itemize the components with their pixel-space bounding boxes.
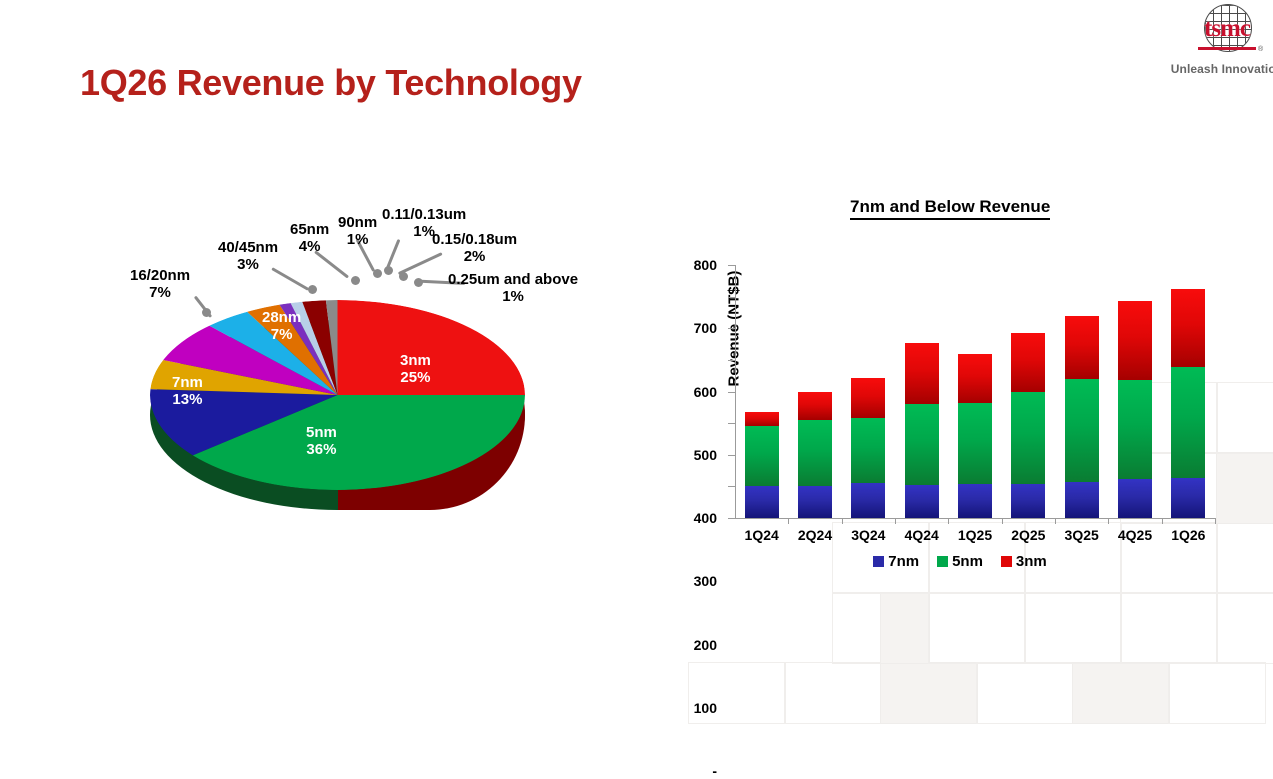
bar-chart-title: 7nm and Below Revenue (850, 197, 1050, 220)
bar-3Q25 (1065, 316, 1099, 518)
bar-segment-3nm (1118, 301, 1152, 380)
y-tick: 200 (728, 455, 735, 456)
y-tick: 600 (728, 328, 735, 329)
y-tick-label: 700 (694, 320, 717, 336)
x-tick (1002, 518, 1003, 524)
pie-label-name: 65nm (290, 221, 329, 238)
x-tick-label-3Q24: 3Q24 (851, 527, 885, 543)
bar-segment-7nm (1118, 479, 1152, 518)
pie-label-65nm: 65nm 4% (290, 222, 329, 256)
pie-label-name: 5nm (306, 424, 337, 441)
pie-label-5nm: 5nm 36% (306, 425, 337, 459)
y-tick-label: 500 (694, 447, 717, 463)
pie-label-28nm: 28nm 7% (262, 310, 301, 344)
bar-1Q24 (745, 412, 779, 518)
bar-segment-5nm (1011, 392, 1045, 484)
y-tick: 700 (728, 297, 735, 298)
tsmc-logo: tsmc ® Unleash Innovation (1182, 4, 1272, 82)
pie-label-3nm: 3nm 25% (400, 353, 431, 387)
pie-label-name: 40/45nm (218, 239, 278, 256)
x-tick-label-4Q24: 4Q24 (905, 527, 939, 543)
legend-swatch-5nm (937, 556, 948, 567)
legend-item-5nm: 5nm (937, 553, 983, 570)
y-axis (735, 265, 736, 518)
x-tick-label-3Q25: 3Q25 (1065, 527, 1099, 543)
bar-segment-5nm (745, 426, 779, 486)
x-tick (948, 518, 949, 524)
x-tick (842, 518, 843, 524)
pie-chart: 16/20nm 7% 40/45nm 3% 65nm 4% 90nm 1% 0.… (110, 190, 670, 530)
y-tick-label: 400 (694, 510, 717, 526)
y-tick: 800 (728, 265, 735, 266)
logo-underline (1198, 47, 1256, 50)
y-tick-label: 100 (694, 700, 717, 716)
bar-2Q25 (1011, 333, 1045, 518)
x-tick-label-1Q26: 1Q26 (1171, 527, 1205, 543)
bar-plot-area: -100200300400500600700800 1Q242Q243Q244Q… (735, 265, 1215, 518)
pie-label-name: 28nm (262, 309, 301, 326)
pie-label-pct: 13% (172, 391, 202, 408)
bar-segment-3nm (905, 343, 939, 405)
x-tick-label-4Q25: 4Q25 (1118, 527, 1152, 543)
pie-label-name: 0.15/0.18um (432, 231, 517, 248)
x-axis (735, 518, 1215, 519)
bar-4Q24 (905, 342, 939, 518)
bar-segment-7nm (1011, 484, 1045, 518)
bar-segment-5nm (1065, 379, 1099, 482)
legend-item-7nm: 7nm (873, 553, 919, 570)
pie-label-name: 16/20nm (130, 267, 190, 284)
bar-2Q24 (798, 392, 832, 519)
pie-label-16-20nm: 16/20nm 7% (130, 268, 190, 302)
bar-segment-7nm (1171, 478, 1205, 518)
bar-segment-5nm (1118, 380, 1152, 479)
legend-label: 3nm (1016, 553, 1047, 570)
bar-segment-5nm (798, 420, 832, 486)
pie-label-pct: 4% (299, 238, 321, 255)
bar-segment-5nm (958, 403, 992, 484)
legend-item-3nm: 3nm (1001, 553, 1047, 570)
bar-segment-3nm (1065, 316, 1099, 379)
pie-label-pct: 7% (271, 326, 293, 343)
bar-segment-7nm (905, 485, 939, 518)
leader-dot-025um-above (414, 278, 423, 287)
y-tick: 100 (728, 486, 735, 487)
logo-tagline: Unleash Innovation (1168, 62, 1273, 76)
pie-label-name: 0.11/0.13um (382, 206, 466, 223)
bar-3Q24 (851, 378, 885, 518)
pie-label-015-018um: 0.15/0.18um 2% (432, 232, 517, 266)
bar-1Q26 (1171, 289, 1205, 518)
x-tick (1215, 518, 1216, 524)
pie-label-40-45nm: 40/45nm 3% (218, 240, 278, 274)
legend-label: 5nm (952, 553, 983, 570)
bar-1Q25 (958, 354, 992, 518)
bar-segment-5nm (851, 418, 885, 483)
leader-dot-015-018um (399, 272, 408, 281)
y-tick: 500 (728, 360, 735, 361)
y-tick: 400 (728, 392, 735, 393)
x-tick-label-1Q24: 1Q24 (745, 527, 779, 543)
bar-segment-3nm (958, 354, 992, 404)
y-tick-label: 800 (694, 257, 717, 273)
page-title: 1Q26 Revenue by Technology (80, 62, 582, 104)
x-tick (788, 518, 789, 524)
bar-segment-5nm (905, 404, 939, 485)
logo-wordmark: tsmc (1182, 15, 1272, 43)
bar-segment-7nm (851, 483, 885, 518)
pie-label-pct: 7% (149, 284, 171, 301)
leader-dot-90nm (373, 269, 382, 278)
x-tick-label-2Q24: 2Q24 (798, 527, 832, 543)
pie-top-face (150, 300, 525, 490)
pie-label-pct: 36% (306, 441, 336, 458)
legend-swatch-3nm (1001, 556, 1012, 567)
registered-mark: ® (1258, 46, 1263, 53)
pie-label-7nm: 7nm 13% (172, 375, 203, 409)
pie-label-pct: 25% (400, 369, 430, 386)
x-tick-label-1Q25: 1Q25 (958, 527, 992, 543)
pie-label-pct: 3% (237, 256, 259, 273)
x-tick (1108, 518, 1109, 524)
bar-segment-7nm (745, 486, 779, 518)
pie-label-name: 90nm (338, 214, 377, 231)
leader-dot-011-013um (384, 266, 393, 275)
x-tick (1055, 518, 1056, 524)
pie-label-name: 0.25um and above (448, 271, 578, 288)
bar-segment-3nm (798, 392, 832, 420)
y-tick-label: 300 (694, 573, 717, 589)
pie-label-name: 3nm (400, 352, 431, 369)
bar-chart: 7nm and Below Revenue Revenue (NT$B) -10… (660, 185, 1260, 595)
bar-segment-3nm (851, 378, 885, 418)
y-tick-label: - (712, 763, 717, 779)
x-tick (895, 518, 896, 524)
pie-label-90nm: 90nm 1% (338, 215, 377, 249)
bar-segment-5nm (1171, 367, 1205, 478)
legend-swatch-7nm (873, 556, 884, 567)
bar-segment-3nm (1171, 289, 1205, 366)
bar-chart-legend: 7nm5nm3nm (660, 553, 1260, 570)
pie-label-name: 7nm (172, 374, 203, 391)
legend-label: 7nm (888, 553, 919, 570)
pie-label-025um-above: 0.25um and above 1% (448, 272, 578, 306)
bar-segment-7nm (798, 486, 832, 518)
bar-segment-7nm (1065, 482, 1099, 518)
pie-body (150, 300, 525, 500)
x-tick-label-2Q25: 2Q25 (1011, 527, 1045, 543)
pie-label-pct: 1% (502, 288, 524, 305)
pie-label-pct: 1% (347, 231, 369, 248)
leader-dot-65nm (351, 276, 360, 285)
y-tick: - (728, 518, 735, 519)
y-tick-label: 200 (694, 637, 717, 653)
bar-segment-3nm (1011, 333, 1045, 392)
bar-segment-7nm (958, 484, 992, 518)
bar-4Q25 (1118, 301, 1152, 518)
bar-segment-3nm (745, 412, 779, 426)
x-tick (1162, 518, 1163, 524)
y-tick: 300 (728, 423, 735, 424)
leader-dot-40-45nm (308, 285, 317, 294)
y-tick-label: 600 (694, 384, 717, 400)
pie-label-pct: 2% (464, 248, 486, 265)
